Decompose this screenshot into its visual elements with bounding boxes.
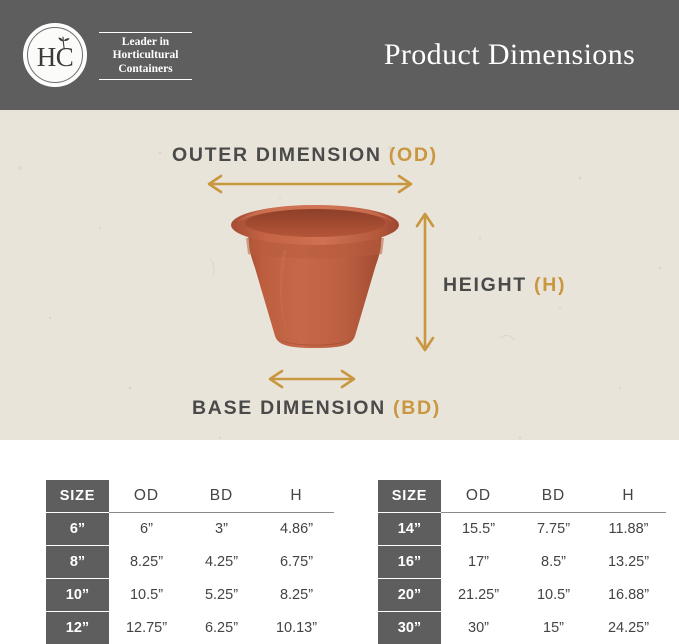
cell-size: 12” xyxy=(46,612,109,644)
tagline-line-3: Containers xyxy=(99,63,192,77)
cell-h: 10.13” xyxy=(259,612,334,644)
cell-h: 6.75” xyxy=(259,546,334,579)
base-dimension-label: BASE DIMENSION (BD) xyxy=(192,397,441,420)
cell-bd: 6.25” xyxy=(184,612,259,644)
table-header-row: SIZE OD BD H xyxy=(46,480,334,513)
table-row: 10” 10.5” 5.25” 8.25” xyxy=(46,579,334,612)
cell-h: 11.88” xyxy=(591,513,666,546)
leaf-sprout-icon xyxy=(57,36,73,50)
outer-dimension-text: OUTER DIMENSION xyxy=(172,144,389,166)
cell-size: 30” xyxy=(378,612,441,644)
header-size: SIZE xyxy=(378,480,441,513)
cell-od: 12.75” xyxy=(109,612,184,644)
cell-od: 21.25” xyxy=(441,579,516,612)
outer-dimension-code: (OD) xyxy=(389,144,438,166)
cell-od: 8.25” xyxy=(109,546,184,579)
height-text: HEIGHT xyxy=(443,274,534,296)
table-header-row: SIZE OD BD H xyxy=(378,480,666,513)
header-h: H xyxy=(259,480,334,513)
outer-dimension-label: OUTER DIMENSION (OD) xyxy=(172,144,438,167)
tagline-line-1: Leader in xyxy=(99,36,192,50)
base-dimension-arrow-icon xyxy=(264,369,360,389)
cell-h: 4.86” xyxy=(259,513,334,546)
header-bar: HC Leader in Horticultural Containers Pr… xyxy=(0,0,679,110)
cell-od: 6” xyxy=(109,513,184,546)
cell-h: 16.88” xyxy=(591,579,666,612)
height-arrow-icon xyxy=(415,208,435,356)
cell-size: 20” xyxy=(378,579,441,612)
table-row: 30” 30” 15” 24.25” xyxy=(378,612,666,644)
cell-h: 24.25” xyxy=(591,612,666,644)
tagline-line-2: Horticultural xyxy=(99,49,192,63)
hc-logo-badge: HC xyxy=(22,22,90,90)
cell-od: 17” xyxy=(441,546,516,579)
cell-size: 6” xyxy=(46,513,109,546)
header-od: OD xyxy=(109,480,184,513)
height-label: HEIGHT (H) xyxy=(443,274,566,297)
header-size: SIZE xyxy=(46,480,109,513)
cell-od: 30” xyxy=(441,612,516,644)
terracotta-pot-illustration xyxy=(225,198,405,368)
table-row: 16” 17” 8.5” 13.25” xyxy=(378,546,666,579)
table-row: 12” 12.75” 6.25” 10.13” xyxy=(46,612,334,644)
cell-od: 10.5” xyxy=(109,579,184,612)
header-bd: BD xyxy=(516,480,591,513)
page-title: Product Dimensions xyxy=(340,0,679,110)
table-row: 6” 6” 3” 4.86” xyxy=(46,513,334,546)
cell-h: 13.25” xyxy=(591,546,666,579)
size-table-left: SIZE OD BD H 6” 6” 3” 4.86” 8” 8.25” 4.2… xyxy=(46,480,334,644)
base-dimension-text: BASE DIMENSION xyxy=(192,397,393,419)
cell-size: 16” xyxy=(378,546,441,579)
size-table-right: SIZE OD BD H 14” 15.5” 7.75” 11.88” 16” … xyxy=(378,480,666,644)
brand-tagline: Leader in Horticultural Containers xyxy=(99,32,192,81)
height-code: (H) xyxy=(534,274,566,296)
table-row: 8” 8.25” 4.25” 6.75” xyxy=(46,546,334,579)
diagram-panel: OUTER DIMENSION (OD) HEIGHT (H) BASE DIM… xyxy=(0,108,679,440)
cell-bd: 7.75” xyxy=(516,513,591,546)
header-bd: BD xyxy=(184,480,259,513)
logo-monogram: HC xyxy=(22,22,88,88)
table-row: 14” 15.5” 7.75” 11.88” xyxy=(378,513,666,546)
cell-bd: 5.25” xyxy=(184,579,259,612)
cell-h: 8.25” xyxy=(259,579,334,612)
header-od: OD xyxy=(441,480,516,513)
cell-bd: 3” xyxy=(184,513,259,546)
cell-bd: 8.5” xyxy=(516,546,591,579)
outer-dimension-arrow-icon xyxy=(203,174,417,194)
cell-bd: 4.25” xyxy=(184,546,259,579)
brand-logo-block: HC Leader in Horticultural Containers xyxy=(22,21,192,91)
cell-size: 8” xyxy=(46,546,109,579)
base-dimension-code: (BD) xyxy=(393,397,441,419)
cell-bd: 15” xyxy=(516,612,591,644)
table-row: 20” 21.25” 10.5” 16.88” xyxy=(378,579,666,612)
cell-size: 14” xyxy=(378,513,441,546)
cell-size: 10” xyxy=(46,579,109,612)
size-table-right-grid: SIZE OD BD H 14” 15.5” 7.75” 11.88” 16” … xyxy=(378,480,666,644)
cell-bd: 10.5” xyxy=(516,579,591,612)
header-h: H xyxy=(591,480,666,513)
cell-od: 15.5” xyxy=(441,513,516,546)
size-table-left-grid: SIZE OD BD H 6” 6” 3” 4.86” 8” 8.25” 4.2… xyxy=(46,480,334,644)
